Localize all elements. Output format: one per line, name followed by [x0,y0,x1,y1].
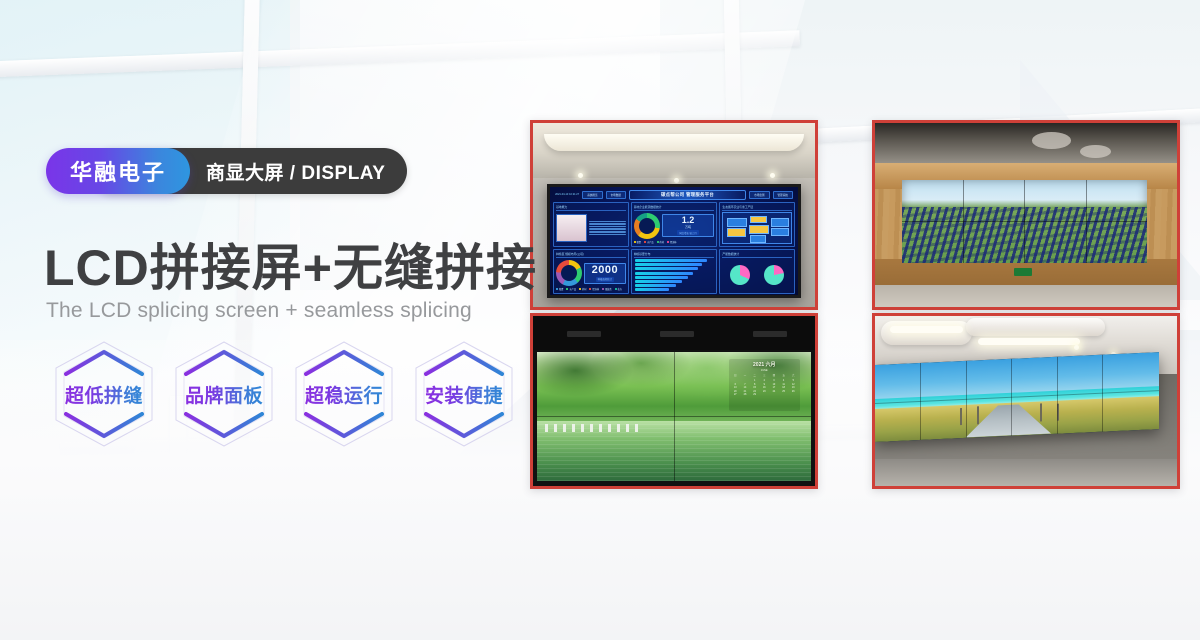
dashboard-title: 碳点帮公司 管理服务平台 [629,190,746,200]
calendar-weekdays: 日一 二三 四五 六 [731,374,798,377]
photo-beach-boardwalk-video-wall[interactable] [872,313,1180,489]
bar-chart [634,259,715,291]
calendar-days: 12 34 56 78 910 1112 1314 1516 1718 1920… [731,379,798,396]
flow-diagram [722,212,791,244]
dashboard-screen: 2021-04-13 10:21:27 系统概览 市场数据 碳点帮公司 管理服务… [547,184,801,298]
feature-hex-4[interactable]: 安装便捷 [408,338,520,450]
page-title: LCD拼接屏+无缝拼接 [44,228,537,300]
dashboard-nav-1[interactable]: 系统概览 [582,191,602,199]
brand-badge[interactable]: 华融电子 [46,148,190,194]
dashboard-panel: 种植基要分布 [631,249,718,294]
feature-hex-1-label: 超低拼缝 [65,381,143,408]
dashboard-panel: 产能数据统计 [719,249,794,294]
dashboard-nav-3[interactable]: 市场监测 [749,191,769,199]
page-subtitle: The LCD splicing screen + seamless splic… [46,299,472,323]
dashboard-timestamp: 2021-04-13 10:21:27 [555,193,579,196]
dashboard-nav-2[interactable]: 市场数据 [606,191,626,199]
dashboard-panel: 基地企业能源数据统计 1.2 万吨 同比增长 较上月 粮食 [631,202,718,247]
photo-willow-lake-video-wall[interactable]: 2021 六月 JUNE 日一 二三 四五 六 12 34 56 78 [530,313,818,489]
badge-row: 华融电子 商显大屏 / DISPLAY [46,148,407,194]
feature-hex-3[interactable]: 超稳运行 [288,338,400,450]
kpi-card: 1.2 万吨 同比增长 较上月 [662,214,715,237]
kpi-card: 2000 种植面积统计 [584,263,625,284]
calendar-overlay: 2021 六月 JUNE 日一 二三 四五 六 12 34 56 78 [729,359,800,411]
feature-hex-1[interactable]: 超低拼缝 [48,338,160,450]
dashboard-panel: 基地概力 [553,202,628,247]
solar-video-wall-screen [902,180,1147,263]
donut-chart [634,213,660,239]
feature-hex-2[interactable]: 品牌面板 [168,338,280,450]
banner-stage: 华融电子 商显大屏 / DISPLAY LCD拼接屏+无缝拼接 The LCD … [0,0,1200,640]
feature-hex-4-label: 安装便捷 [425,381,503,408]
feature-list: 超低拼缝 品牌面板 [48,338,520,450]
pie-charts [722,259,791,291]
dashboard-nav-4[interactable]: 管理系统 [773,191,793,199]
dashboard-panel: 生态循环农业与重工产链 [719,202,794,247]
willow-lake-screen: 2021 六月 JUNE 日一 二三 四五 六 12 34 56 78 [537,352,811,481]
feature-hex-2-label: 品牌面板 [185,381,263,408]
beach-video-wall-screen [875,352,1159,441]
photo-solar-farm-video-wall[interactable] [872,120,1180,310]
photo-dashboard-video-wall[interactable]: 2021-04-13 10:21:27 系统概览 市场数据 碳点帮公司 管理服务… [530,120,818,310]
donut-chart [556,260,582,286]
feature-hex-3-label: 超稳运行 [305,381,383,408]
dashboard-panel: 种植区 规模布局(公顷) 2000 种植面积统计 粮食 水产品 [553,249,628,294]
